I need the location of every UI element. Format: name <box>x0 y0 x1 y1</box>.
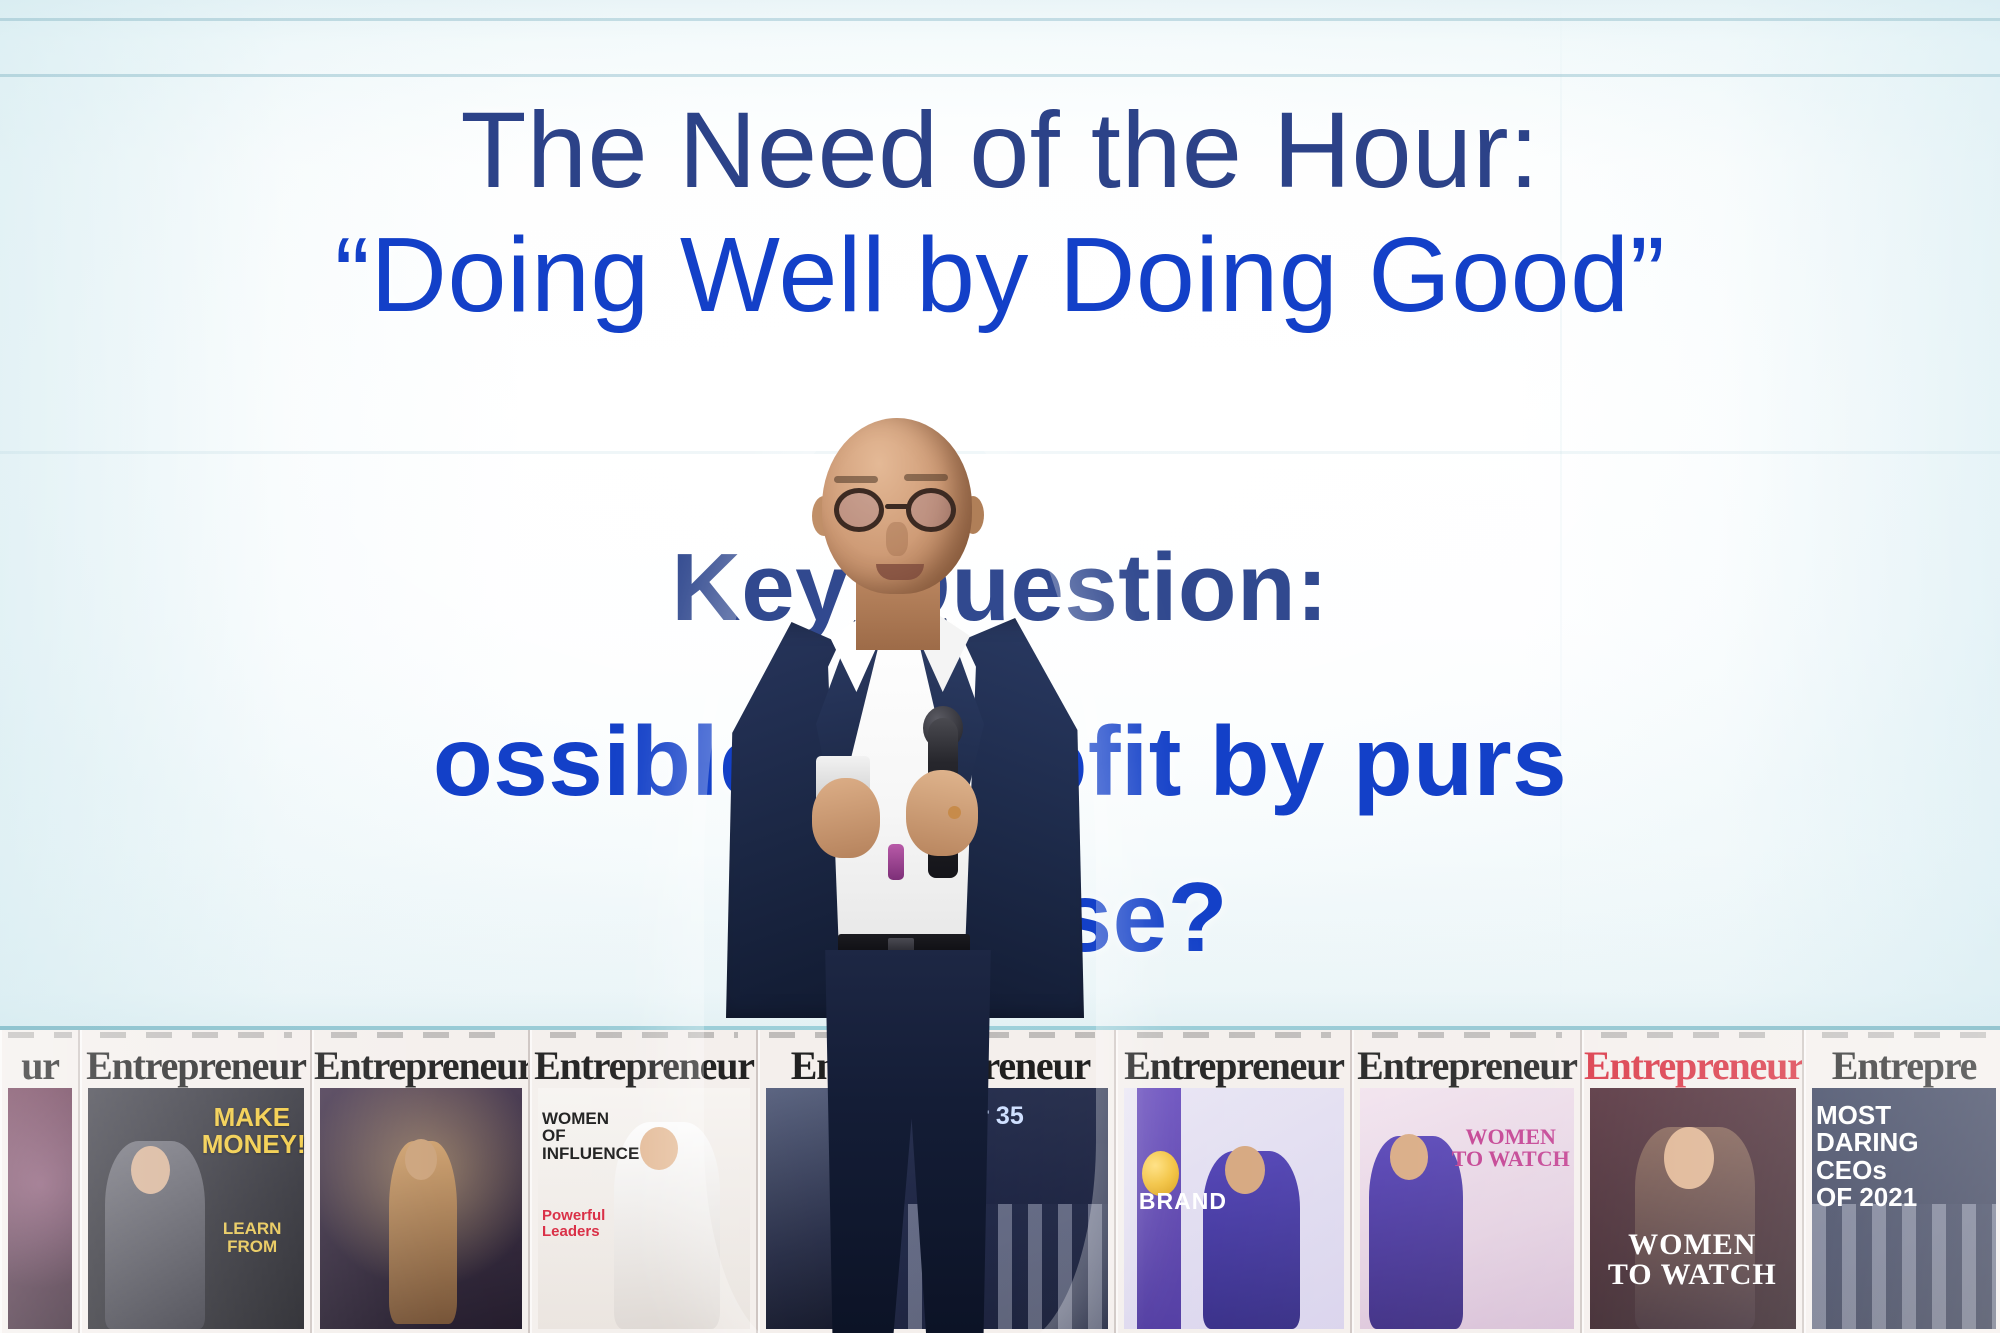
cover-masthead: Entrepreneur <box>1354 1042 1580 1089</box>
cover-person-head <box>1664 1127 1713 1190</box>
magazine-cover: Entrepreneur <box>312 1030 530 1333</box>
glasses-lens-right <box>906 488 956 532</box>
magazine-cover: EntrepreneurWOMEN TO WATCH <box>1352 1030 1582 1333</box>
cover-kicker-strip <box>1137 1032 1332 1038</box>
cover-subline: Powerful Leaders <box>542 1208 623 1240</box>
cover-headline: BRAND <box>1139 1190 1260 1213</box>
speaker-lanyard-badge <box>888 844 904 880</box>
magazine-cover: EntrepreneurWOMEN TO WATCH <box>1582 1030 1804 1333</box>
cover-headline: WOMEN OF INFLUENCE <box>542 1110 618 1162</box>
speaker-hand-right <box>906 770 978 856</box>
cover-masthead: ur <box>2 1042 78 1089</box>
slide-title-line-1: The Need of the Hour: <box>0 96 2000 204</box>
slide-title-line-2: “Doing Well by Doing Good” <box>0 222 2000 328</box>
cover-kicker-strip <box>1372 1032 1562 1038</box>
cover-kicker-strip <box>100 1032 292 1038</box>
speaker-eyebrow-right <box>904 474 948 481</box>
magazine-cover: EntrepreneurBRAND <box>1116 1030 1352 1333</box>
glasses-bridge <box>885 504 909 509</box>
cover-kicker-strip <box>1601 1032 1784 1038</box>
cover-person-head <box>1390 1134 1429 1180</box>
cover-artwork <box>320 1088 522 1329</box>
cover-person-head <box>405 1139 437 1180</box>
cover-artwork <box>1590 1088 1796 1329</box>
cover-group-photo <box>1812 1204 1996 1329</box>
magazine-cover: EntrepreneurMAKE MONEY!LEARN FROM <box>80 1030 312 1333</box>
cover-masthead: Entrepreneur <box>1118 1042 1350 1089</box>
speaker-ring <box>948 806 961 819</box>
cover-masthead: Entrepreneur <box>82 1042 310 1089</box>
cover-kicker-strip <box>331 1032 511 1038</box>
cover-person-head <box>640 1127 678 1170</box>
speaker-figure <box>690 418 1110 1333</box>
cover-glow <box>8 1088 72 1329</box>
cover-headline: WOMEN TO WATCH <box>1592 1230 1793 1291</box>
speaker-trousers <box>818 950 998 1333</box>
cover-person-head <box>1225 1146 1265 1194</box>
cover-masthead: Entrepre <box>1806 1042 2000 1089</box>
cover-person-head <box>131 1146 170 1194</box>
magazine-cover: ur <box>0 1030 80 1333</box>
cover-headline: MOST DARING CEOs OF 2021 <box>1816 1102 1938 1211</box>
cover-headline: MAKE MONEY! <box>202 1104 302 1157</box>
glasses-lens-left <box>834 488 884 532</box>
cover-masthead: Entrepreneur <box>1584 1042 1802 1089</box>
speaker-hand-left <box>812 778 880 858</box>
speaker-eyebrow-left <box>834 476 878 483</box>
cover-artwork <box>8 1088 72 1329</box>
stage-scene: The Need of the Hour: “Doing Well by Doi… <box>0 0 2000 1333</box>
speaker-nose <box>886 522 908 556</box>
cover-masthead: Entrepreneur <box>314 1042 528 1089</box>
cover-subline: LEARN FROM <box>204 1220 300 1256</box>
cover-kicker-strip <box>8 1032 72 1038</box>
magazine-cover: EntrepreMOST DARING CEOs OF 2021 <box>1804 1030 2000 1333</box>
cover-kicker-strip <box>1822 1032 1987 1038</box>
cover-headline: WOMEN TO WATCH <box>1447 1126 1574 1171</box>
